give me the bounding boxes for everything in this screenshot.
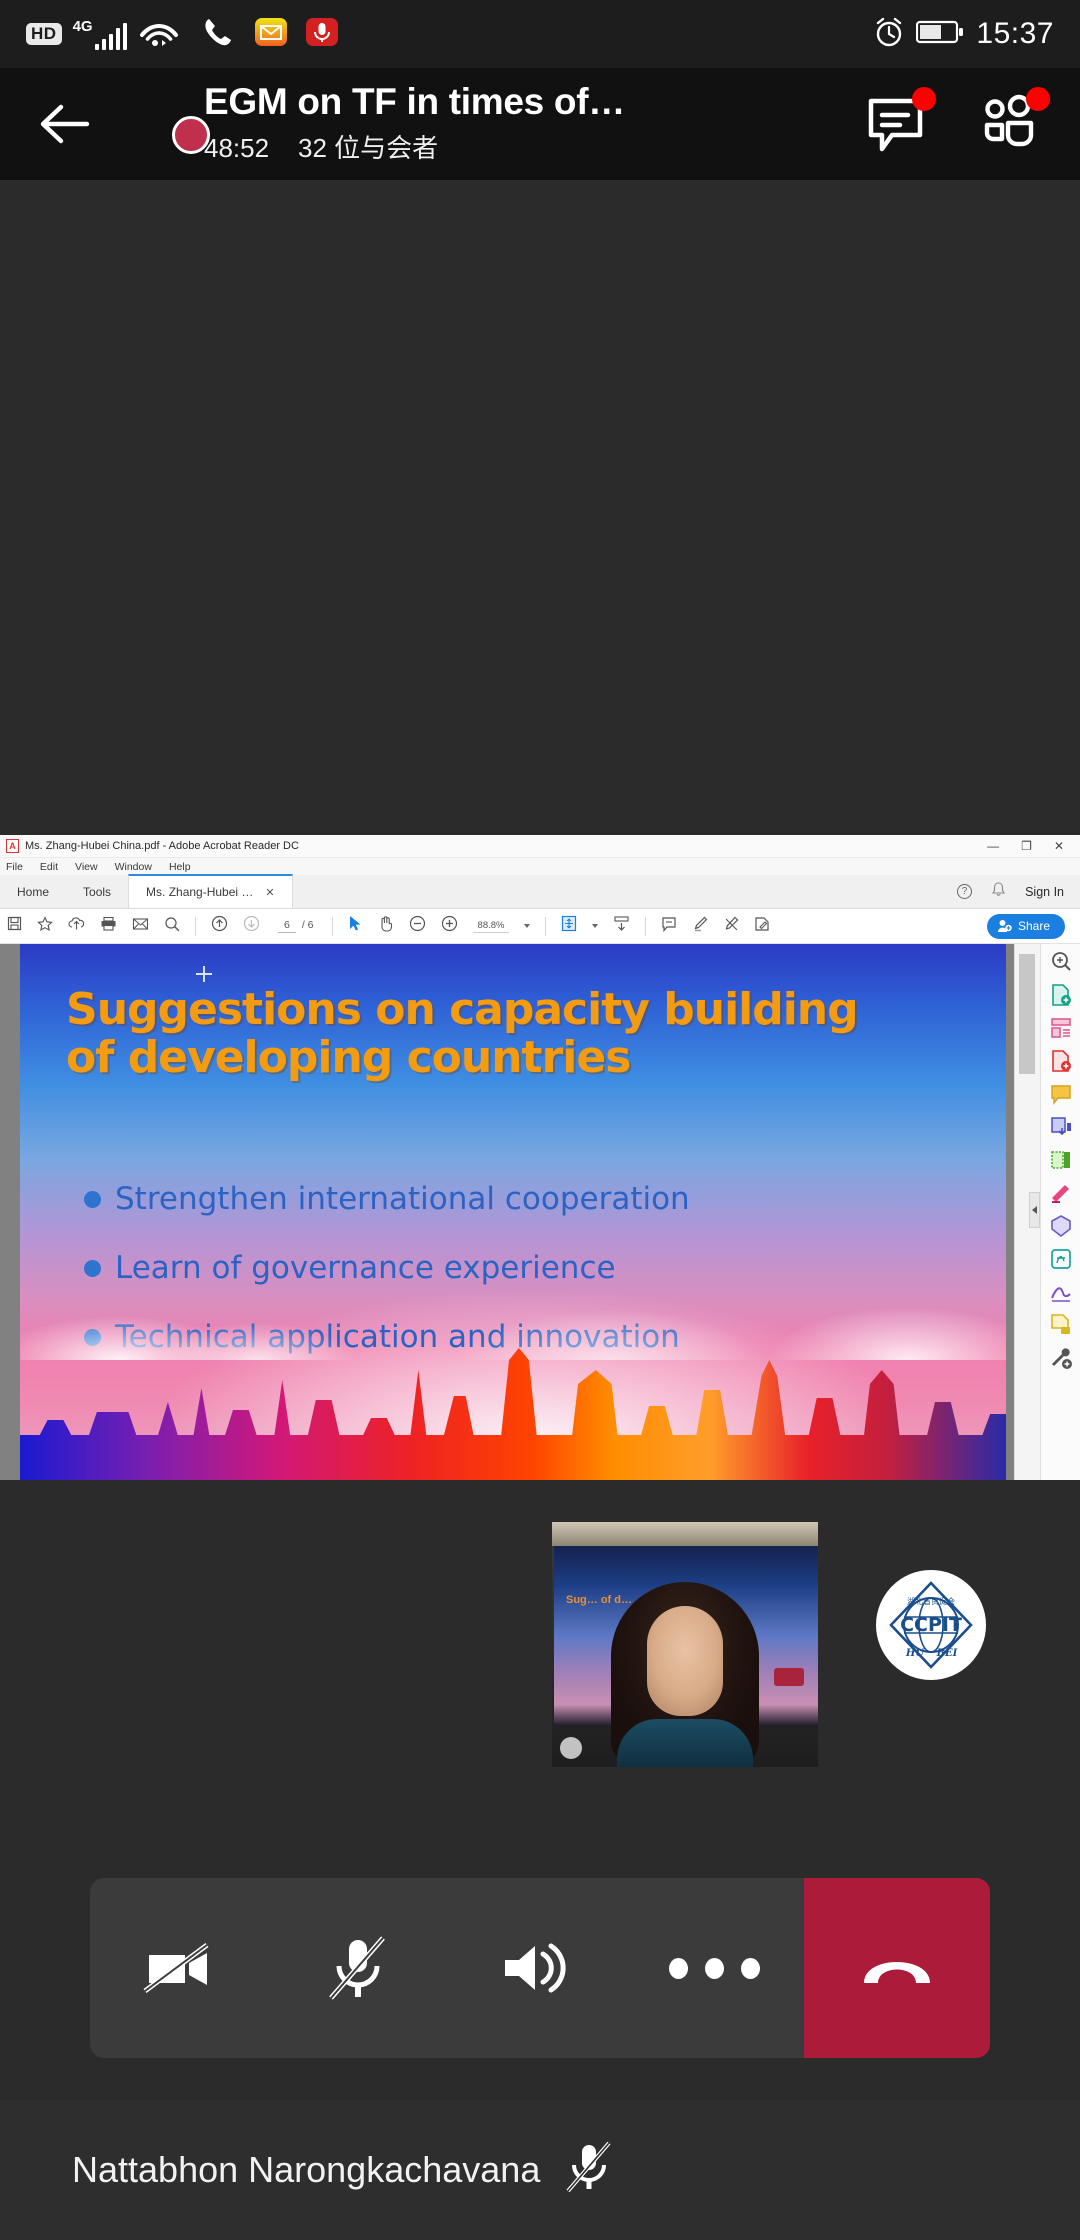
page-title: EGM on TF in times of… — [204, 83, 625, 122]
active-speaker-footer: Nattabhon Narongkachavana — [0, 2100, 1080, 2240]
sign-in-button[interactable]: Sign In — [1025, 885, 1064, 899]
logo-main-text: CCPIT — [900, 1614, 962, 1636]
share-label: Share — [1018, 919, 1050, 933]
wifi-icon — [140, 17, 178, 52]
scroll-mode-icon[interactable] — [613, 915, 630, 937]
print-icon[interactable] — [100, 916, 117, 936]
hang-up-button[interactable] — [804, 1878, 990, 2058]
camera-off-button[interactable] — [90, 1878, 269, 2058]
tab-document-label: Ms. Zhang-Hubei … — [146, 885, 253, 899]
page-total: / 6 — [302, 919, 314, 931]
export-pdf-icon[interactable] — [1049, 1049, 1073, 1073]
menu-file[interactable]: File — [6, 861, 23, 873]
logo-top-text: 湖北省贸促会 — [907, 1596, 955, 1606]
hand-tool-icon[interactable] — [378, 915, 394, 937]
menu-help[interactable]: Help — [169, 861, 191, 873]
call-control-bar — [90, 1878, 990, 2058]
video-background-hangup — [774, 1668, 804, 1686]
acrobat-titlebar: A Ms. Zhang-Hubei China.pdf - Adobe Acro… — [0, 835, 1080, 858]
bell-icon[interactable] — [992, 882, 1005, 902]
crosshair-cursor — [196, 966, 212, 982]
people-icon[interactable] — [978, 91, 1044, 157]
signal-bars-icon: 4G — [71, 19, 128, 50]
microphone-icon — [305, 15, 339, 54]
tab-tools[interactable]: Tools — [66, 875, 128, 908]
question-circle-icon[interactable]: ? — [957, 884, 972, 899]
organize-pages-icon[interactable] — [1049, 1016, 1073, 1040]
tab-document[interactable]: Ms. Zhang-Hubei … ✕ — [128, 874, 293, 908]
more-options-button[interactable] — [626, 1878, 805, 2058]
phone-icon — [203, 16, 233, 53]
measure-icon[interactable] — [1049, 1214, 1073, 1238]
fit-page-icon[interactable] — [561, 915, 577, 937]
highlight-icon[interactable] — [692, 916, 708, 937]
video-tile-band: Sug… of d… CCPIT 湖北省贸促会 HU BEI — [0, 1480, 1080, 1840]
list-item: Strengthen international cooperation — [84, 1182, 971, 1216]
battery-icon — [916, 19, 964, 50]
comment-icon[interactable] — [661, 916, 677, 937]
minimize-button[interactable]: — — [987, 840, 999, 852]
upload-cloud-icon[interactable] — [68, 916, 85, 936]
slide-heading: Suggestions on capacity building of deve… — [66, 986, 914, 1081]
close-button[interactable]: ✕ — [1054, 840, 1064, 852]
video-background-wall — [552, 1522, 818, 1546]
participants-badge — [1026, 87, 1050, 111]
meeting-subinfo: 48:52 32 位与会者 — [204, 128, 625, 165]
list-item: Learn of governance experience — [84, 1251, 971, 1285]
stamp-icon[interactable] — [1049, 1181, 1073, 1205]
speaker-on-icon — [499, 1936, 573, 2000]
mic-muted-icon — [562, 2139, 616, 2202]
zoom-out-icon[interactable] — [409, 915, 426, 937]
mic-muted-badge — [560, 1737, 582, 1759]
close-icon[interactable]: ✕ — [265, 886, 274, 899]
menu-window[interactable]: Window — [115, 861, 152, 873]
protect-icon[interactable] — [1049, 1148, 1073, 1172]
acrobat-document-body[interactable]: Suggestions on capacity building of deve… — [0, 944, 1080, 1480]
meeting-header: EGM on TF in times of… 48:52 32 位与会者 — [0, 68, 1080, 180]
prev-page-icon[interactable] — [211, 915, 228, 937]
city-skyline-graphic — [20, 1340, 1006, 1480]
next-page-icon[interactable] — [243, 915, 260, 937]
acrobat-tools-rail[interactable] — [1040, 944, 1080, 1480]
hd-icon: HD — [26, 23, 62, 45]
select-tool-icon[interactable] — [348, 915, 363, 937]
ccpit-hubei-logo: CCPIT 湖北省贸促会 HU BEI — [876, 1570, 986, 1680]
presenter-video-tile[interactable]: Sug… of d… — [552, 1522, 818, 1767]
redact-icon[interactable] — [1049, 1313, 1073, 1337]
presenter-body — [617, 1719, 753, 1767]
zoom-level-field[interactable]: 88.8% — [473, 920, 510, 933]
chevron-down-icon-2[interactable] — [592, 924, 598, 928]
mail-icon — [254, 15, 288, 54]
pdf-page-area[interactable]: Suggestions on capacity building of deve… — [0, 944, 1014, 1480]
android-status-bar: HD 4G — [0, 0, 1080, 68]
speaker-button[interactable] — [447, 1878, 626, 2058]
search-icon[interactable] — [164, 916, 180, 937]
bullet-dot-icon — [84, 1191, 101, 1208]
camera-off-icon — [141, 1933, 217, 2003]
acrobat-icon: A — [6, 839, 19, 853]
acrobat-window[interactable]: A Ms. Zhang-Hubei China.pdf - Adobe Acro… — [0, 835, 1080, 1480]
back-arrow-icon[interactable] — [30, 89, 100, 159]
email-icon[interactable] — [132, 917, 149, 936]
sign-icon[interactable] — [754, 916, 770, 937]
eraser-icon[interactable] — [723, 916, 739, 937]
page-current[interactable]: 6 — [278, 919, 296, 933]
presenter-figure — [611, 1582, 759, 1767]
meeting-elapsed-time: 48:52 — [204, 133, 269, 163]
scrollbar-thumb[interactable] — [1019, 954, 1035, 1074]
zoom-in-icon[interactable] — [441, 915, 458, 937]
acrobat-toolbar[interactable]: 6 / 6 88.8% — [0, 909, 1080, 944]
meeting-screen: HD 4G — [0, 0, 1080, 2240]
menu-edit[interactable]: Edit — [40, 861, 58, 873]
mic-off-button[interactable] — [269, 1878, 448, 2058]
participants-count: 32 位与会者 — [298, 133, 438, 163]
right-panel-toggle[interactable] — [1029, 1192, 1040, 1228]
more-dots-icon — [669, 1958, 760, 1979]
logo-bottom-left: HU — [905, 1648, 925, 1659]
tab-home[interactable]: Home — [0, 875, 66, 908]
presenter-face — [647, 1606, 723, 1716]
mic-off-icon — [323, 1932, 393, 2004]
adobe-sign-icon[interactable] — [1049, 1115, 1073, 1139]
acrobat-menubar[interactable]: File Edit View Window Help — [0, 858, 1080, 875]
search-document-icon[interactable] — [1049, 950, 1073, 974]
bullet-dot-icon — [84, 1260, 101, 1277]
alarm-icon — [874, 16, 904, 53]
certificate-icon[interactable] — [1049, 1280, 1073, 1304]
page-number-field[interactable]: 6 / 6 — [278, 919, 314, 933]
chat-unread-badge — [912, 87, 936, 111]
create-pdf-icon[interactable] — [1049, 983, 1073, 1007]
comment-panel-icon[interactable] — [1049, 1082, 1073, 1106]
shared-screen-stage[interactable]: A Ms. Zhang-Hubei China.pdf - Adobe Acro… — [0, 180, 1080, 1480]
save-icon[interactable] — [7, 916, 22, 936]
restore-button[interactable]: ❐ — [1021, 840, 1032, 852]
chat-bubble-icon[interactable] — [864, 91, 930, 157]
speaker-name: Nattabhon Narongkachavana — [72, 2149, 540, 2191]
status-clock: 15:37 — [976, 17, 1054, 51]
chevron-down-icon[interactable] — [524, 924, 530, 928]
presentation-slide: Suggestions on capacity building of deve… — [20, 944, 1006, 1480]
menu-view[interactable]: View — [75, 861, 98, 873]
star-icon[interactable] — [37, 916, 53, 937]
acrobat-tabbar[interactable]: Home Tools Ms. Zhang-Hubei … ✕ ? Sign In — [0, 875, 1080, 909]
hang-up-icon — [854, 1943, 940, 1993]
acrobat-window-title: Ms. Zhang-Hubei China.pdf - Adobe Acroba… — [25, 840, 299, 852]
fill-sign-icon[interactable] — [1049, 1247, 1073, 1271]
logo-bottom-right: BEI — [936, 1648, 958, 1659]
share-button[interactable]: Share — [987, 914, 1065, 939]
more-tools-icon[interactable] — [1049, 1346, 1073, 1370]
